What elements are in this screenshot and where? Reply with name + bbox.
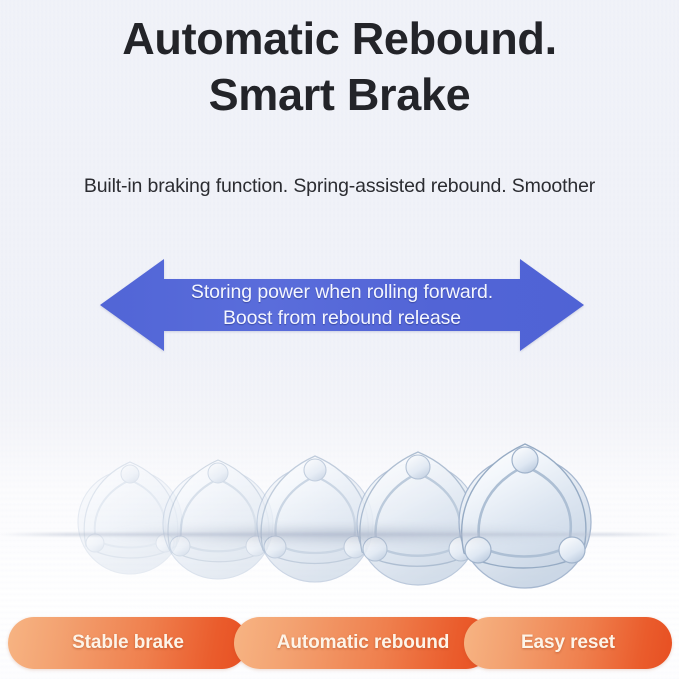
feature-pill-bar: Stable brake Automatic rebound Easy rese… — [0, 617, 679, 669]
feature-pill-label: Easy reset — [521, 632, 615, 654]
feature-pill-label: Stable brake — [72, 632, 184, 654]
arrow-banner-text: Storing power when rolling forward. Boos… — [98, 255, 586, 355]
feature-pill-automatic-rebound[interactable]: Automatic rebound — [234, 617, 492, 669]
promo-banner: Automatic Rebound. Smart Brake Built-in … — [0, 0, 679, 679]
product-ground-line — [0, 533, 679, 536]
feature-pill-stable-brake[interactable]: Stable brake — [8, 617, 248, 669]
arrow-banner: Storing power when rolling forward. Boos… — [98, 255, 586, 355]
rotor-frame-5 — [430, 432, 625, 590]
headline-line-2: Smart Brake — [0, 70, 679, 120]
arrow-text-line-2: Boost from rebound release — [223, 307, 461, 330]
product-ground-shadow — [40, 526, 640, 548]
subtitle-text: Built-in braking function. Spring-assist… — [0, 175, 679, 198]
feature-pill-easy-reset[interactable]: Easy reset — [464, 617, 672, 669]
headline-line-1: Automatic Rebound. — [0, 14, 679, 64]
feature-pill-label: Automatic rebound — [277, 632, 449, 654]
headline-block: Automatic Rebound. Smart Brake — [0, 14, 679, 121]
product-image — [0, 378, 679, 598]
arrow-text-line-1: Storing power when rolling forward. — [191, 281, 493, 304]
